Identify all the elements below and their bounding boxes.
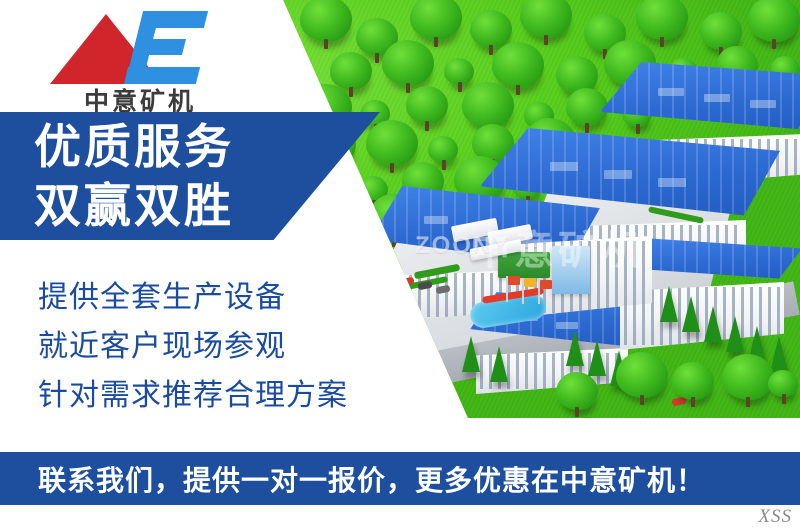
logo-mark bbox=[50, 6, 230, 84]
contact-cta-banner[interactable]: 联系我们，提供一对一报价，更多优惠在中意矿机！ bbox=[0, 452, 800, 505]
blue-poster-board bbox=[552, 246, 590, 294]
corner-watermark: XSS bbox=[758, 506, 792, 528]
list-item: 提供全套生产设备 bbox=[38, 273, 438, 322]
headline-line-1: 优质服务 bbox=[34, 118, 334, 177]
headline-line-2: 双赢双胜 bbox=[34, 177, 334, 236]
company-logo[interactable]: 中意矿机 bbox=[50, 6, 230, 110]
headline-text: 优质服务 双赢双胜 bbox=[34, 118, 334, 236]
list-item: 就近客户现场参观 bbox=[38, 322, 438, 371]
blue-letter-e-icon bbox=[130, 11, 226, 84]
selling-points-list: 提供全套生产设备 就近客户现场参观 针对需求推荐合理方案 bbox=[38, 273, 438, 420]
contact-cta-text: 联系我们，提供一对一报价，更多优惠在中意矿机！ bbox=[38, 459, 705, 499]
list-item: 针对需求推荐合理方案 bbox=[38, 371, 438, 420]
green-signboard bbox=[498, 252, 550, 278]
poster-root: 中意矿机 ZOONY 中意矿机 优质服务 双赢双胜 提供全套生产设备 就近客户现… bbox=[0, 0, 800, 530]
